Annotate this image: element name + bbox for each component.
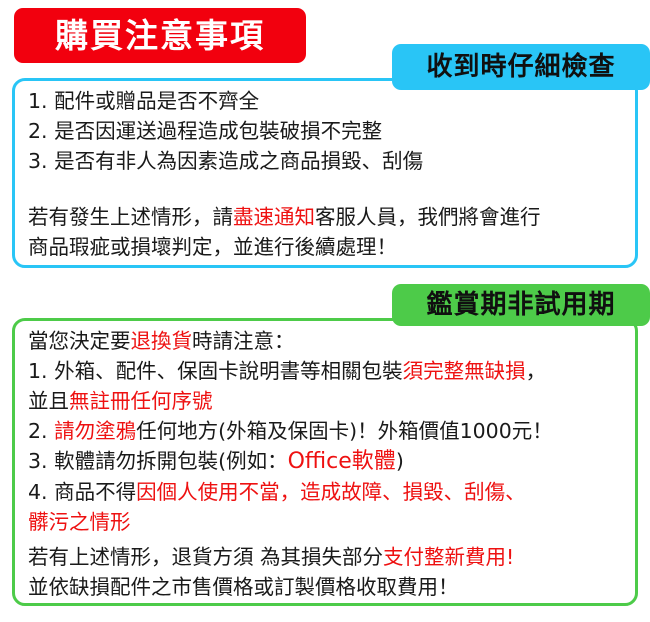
list-item-number: 1. <box>28 89 48 113</box>
inspection-tab-badge: 收到時仔細檢查 <box>392 44 650 90</box>
list-item-continuation: 並且無註冊任何序號 <box>28 386 553 416</box>
note-line: 若有發生上述情形，請盡速通知客服人員，我們將會進行 <box>28 202 541 232</box>
list-item: 2. 是否因運送過程造成包裝破損不完整 <box>28 116 423 146</box>
list-item-emphasis: 因個人使用不當，造成故障、損毀、刮傷、 <box>136 480 526 504</box>
list-item-emphasis: Office軟體 <box>288 449 396 474</box>
inspection-note: 若有發生上述情形，請盡速通知客服人員，我們將會進行 商品瑕疵或損壞判定，並進行後… <box>28 202 541 262</box>
list-item: 1. 配件或贈品是否不齊全 <box>28 86 423 116</box>
list-item-emphasis: 無註冊任何序號 <box>69 389 213 413</box>
list-item-text: 是否有非人為因素造成之商品損毀、刮傷 <box>54 149 423 173</box>
list-item-text: 軟體請勿拆開包裝(例如： <box>54 449 288 473</box>
list-item-text: ) <box>396 449 404 473</box>
inspection-tab-label: 收到時仔細檢查 <box>426 54 615 80</box>
list-item-text: 商品不得 <box>54 480 136 504</box>
note-text: 若有上述情形，退貨方須 為其損失部分 <box>28 545 383 569</box>
page-title: 購買注意事項 <box>55 19 265 52</box>
note-emphasis: 支付整新費用! <box>383 545 514 569</box>
return-policy-list: 當您決定要退換貨時請注意： 1. 外箱、配件、保固卡說明書等相關包裝須完整無缺損… <box>28 326 553 537</box>
intro-text: 時請注意： <box>192 329 295 353</box>
list-item-text: ， <box>526 359 547 383</box>
return-policy-note: 若有上述情形，退貨方須 為其損失部分支付整新費用! 並依缺損配件之市售價格或訂製… <box>28 542 514 602</box>
intro-emphasis: 退換貨 <box>131 329 193 353</box>
purchase-notice-section: 購買注意事項 收到時仔細檢查 1. 配件或贈品是否不齊全 2. 是否因運送過程造… <box>0 0 650 275</box>
purchase-notice-title-badge: 購買注意事項 <box>14 8 306 63</box>
list-item-text: 任何地方(外箱及保固卡)！外箱價值1000元！ <box>136 419 553 443</box>
list-item-number: 2. <box>28 419 48 443</box>
inspection-checklist: 1. 配件或贈品是否不齊全 2. 是否因運送過程造成包裝破損不完整 3. 是否有… <box>28 86 423 176</box>
list-item-emphasis: 髒污之情形 <box>28 510 131 534</box>
list-item-text: 配件或贈品是否不齊全 <box>54 89 259 113</box>
list-item: 3. 軟體請勿拆開包裝(例如：Office軟體) <box>28 446 553 477</box>
list-item: 1. 外箱、配件、保固卡說明書等相關包裝須完整無缺損， <box>28 356 553 386</box>
list-item: 2. 請勿塗鴉任何地方(外箱及保固卡)！外箱價值1000元！ <box>28 416 553 446</box>
note-line: 若有上述情形，退貨方須 為其損失部分支付整新費用! <box>28 542 514 572</box>
note-line: 商品瑕疵或損壞判定，並進行後續處理！ <box>28 232 541 262</box>
list-item-number: 1. <box>28 359 48 383</box>
note-emphasis: 盡速通知 <box>233 205 315 229</box>
list-item-text: 並且 <box>28 389 69 413</box>
list-item: 3. 是否有非人為因素造成之商品損毀、刮傷 <box>28 146 423 176</box>
list-item-emphasis: 請勿塗鴉 <box>54 419 136 443</box>
list-item-number: 3. <box>28 449 48 473</box>
intro-text: 當您決定要 <box>28 329 131 353</box>
list-item: 4. 商品不得因個人使用不當，造成故障、損毀、刮傷、 <box>28 477 553 507</box>
list-item-emphasis: 須完整無缺損 <box>403 359 526 383</box>
list-item-number: 3. <box>28 149 48 173</box>
list-item-number: 4. <box>28 480 48 504</box>
list-item-continuation: 髒污之情形 <box>28 507 553 537</box>
list-item-text: 外箱、配件、保固卡說明書等相關包裝 <box>54 359 403 383</box>
note-text: 客服人員，我們將會進行 <box>315 205 541 229</box>
list-item-number: 2. <box>28 119 48 143</box>
appraisal-period-tab-label: 鑑賞期非試用期 <box>426 292 615 318</box>
list-item-text: 是否因運送過程造成包裝破損不完整 <box>54 119 382 143</box>
appraisal-period-tab-badge: 鑑賞期非試用期 <box>392 284 650 326</box>
return-policy-intro: 當您決定要退換貨時請注意： <box>28 326 553 356</box>
note-text: 若有發生上述情形，請 <box>28 205 233 229</box>
note-line: 並依缺損配件之市售價格或訂製價格收取費用！ <box>28 572 514 602</box>
